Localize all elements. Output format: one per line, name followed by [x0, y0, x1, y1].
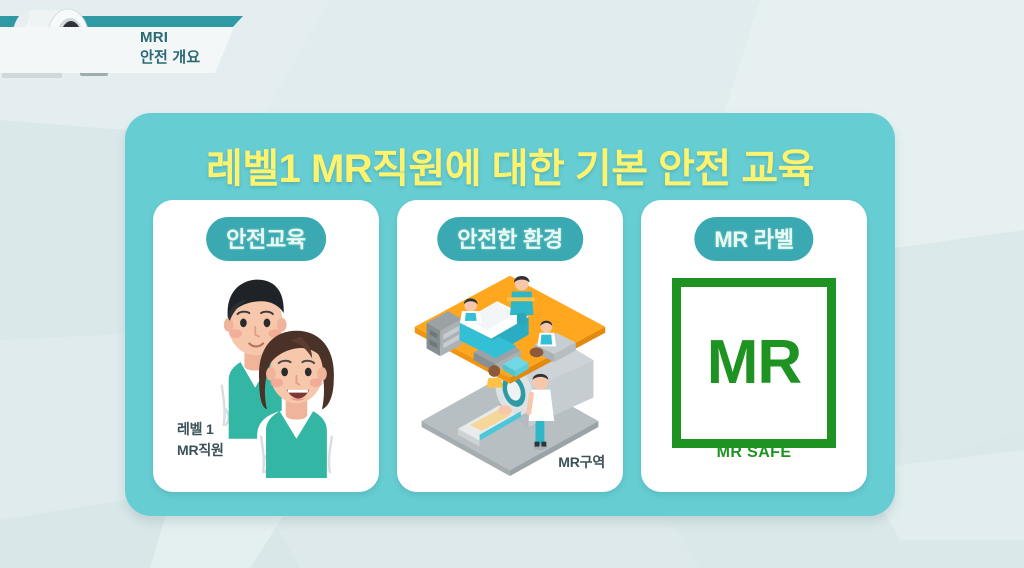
main-panel: 레벨1 MR직원에 대한 기본 안전 교육 안전교육: [125, 113, 895, 516]
card-caption-line2: MR직원: [177, 440, 224, 462]
card-list: 안전교육: [153, 200, 867, 492]
header-title-line1: MRI: [140, 28, 250, 48]
header-title-line2: 안전 개요: [140, 48, 250, 68]
header-title: MRI 안전 개요: [140, 28, 250, 68]
isometric-mri-suite-illustration: [397, 262, 623, 478]
card-badge: 안전교육: [206, 217, 326, 261]
header-banner: MRI 안전 개요: [0, 0, 420, 92]
card-caption: 레벨 1 MR직원: [177, 419, 224, 462]
card-badge: MR 라벨: [694, 217, 813, 261]
card-safety-education[interactable]: 안전교육: [153, 200, 379, 492]
card-caption: MR SAFE: [641, 441, 867, 466]
card-safe-environment[interactable]: 안전한 환경: [397, 200, 623, 492]
card-caption: MR구역: [558, 452, 605, 474]
mr-safe-label-icon: MR: [672, 278, 836, 448]
card-caption-line1: 레벨 1: [177, 419, 224, 441]
card-mr-label[interactable]: MR 라벨 MR MR SAFE: [641, 200, 867, 492]
panel-title: 레벨1 MR직원에 대한 기본 안전 교육: [125, 136, 895, 194]
card-badge: 안전한 환경: [437, 217, 583, 261]
mr-label-text: MR: [707, 332, 801, 394]
